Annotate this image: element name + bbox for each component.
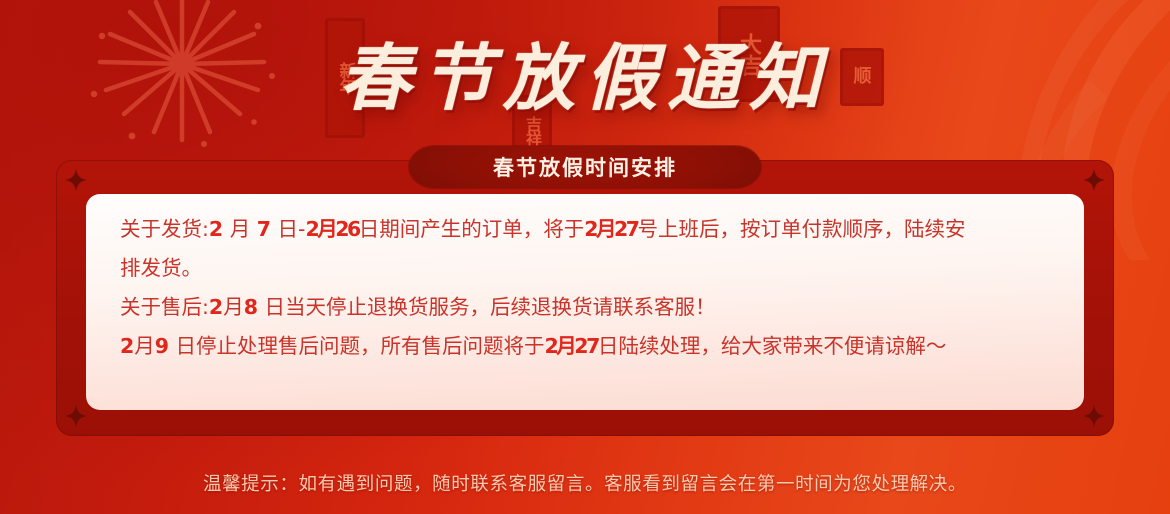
notice-segment: 2月26 bbox=[305, 217, 358, 241]
subtitle-text: 春节放假时间安排 bbox=[493, 152, 677, 182]
notice-line-after-sales: 关于售后:2月8 日当天停止退换货服务，后续退换货请联系客服！ bbox=[120, 288, 1050, 327]
notice-segment: 9 bbox=[155, 334, 169, 358]
notice-segment: 关于售后: bbox=[120, 295, 209, 319]
notice-segment: 月 bbox=[223, 217, 257, 241]
notice-segment: 日当天停止退换货服务，后续退换货请联系客服！ bbox=[258, 295, 716, 319]
corner-star-icon-bottom-right bbox=[1083, 405, 1105, 427]
notice-segment: 月 bbox=[134, 334, 155, 358]
banner-title: 春节放假通知 bbox=[0, 32, 1170, 128]
notice-segment: 7 bbox=[257, 217, 271, 241]
notice-line-after-sales-stop: 2月9 日停止处理售后问题，所有售后问题将于2月27日陆续处理，给大家带来不便请… bbox=[120, 327, 1050, 366]
corner-star-icon-top-left bbox=[65, 169, 87, 191]
notice-panel: 关于发货:2 月 7 日-2月26日期间产生的订单，将于2月27号上班后，按订单… bbox=[86, 194, 1084, 410]
notice-line-shipping-cont: 排发货。 bbox=[120, 249, 1050, 288]
notice-segment: 2 bbox=[209, 295, 223, 319]
notice-lines: 关于发货:2 月 7 日-2月26日期间产生的订单，将于2月27号上班后，按订单… bbox=[120, 210, 1050, 366]
notice-segment: 2月27 bbox=[545, 334, 598, 358]
notice-segment: 号上班后，按订单付款顺序，陆续安 bbox=[638, 217, 966, 241]
footer-tip: 温馨提示：如有遇到问题，随时联系客服留言。客服看到留言会在第一时间为您处理解决。 bbox=[0, 470, 1170, 496]
notice-segment: 关于发货: bbox=[120, 217, 209, 241]
notice-segment: 8 bbox=[244, 295, 258, 319]
footer-tip-text: 温馨提示：如有遇到问题，随时联系客服留言。客服看到留言会在第一时间为您处理解决。 bbox=[203, 474, 967, 495]
notice-segment: 月 bbox=[223, 295, 244, 319]
notice-line-shipping: 关于发货:2 月 7 日-2月26日期间产生的订单，将于2月27号上班后，按订单… bbox=[120, 210, 1050, 249]
notice-segment: 2 bbox=[209, 217, 223, 241]
spring-festival-notice-banner: 新年 吉祥 大吉 顺 春节放假通知 春节放假时间安排 bbox=[0, 0, 1170, 514]
corner-star-icon-bottom-left bbox=[65, 405, 87, 427]
notice-segment: 2月27 bbox=[584, 217, 637, 241]
banner-title-text: 春节放假通知 bbox=[339, 32, 831, 124]
corner-star-icon-top-right bbox=[1083, 169, 1105, 191]
subtitle-pill: 春节放假时间安排 bbox=[409, 146, 761, 188]
notice-segment: 日陆续处理，给大家带来不便请谅解～ bbox=[598, 334, 947, 358]
notice-segment: 日 bbox=[271, 217, 298, 241]
notice-segment: 日停止处理售后问题，所有售后问题将于 bbox=[169, 334, 545, 358]
notice-segment: 日期间产生的订单，将于 bbox=[359, 217, 585, 241]
notice-segment: 排发货。 bbox=[120, 256, 202, 280]
notice-segment: 2 bbox=[120, 334, 134, 358]
notice-frame: 关于发货:2 月 7 日-2月26日期间产生的订单，将于2月27号上班后，按订单… bbox=[56, 160, 1114, 436]
